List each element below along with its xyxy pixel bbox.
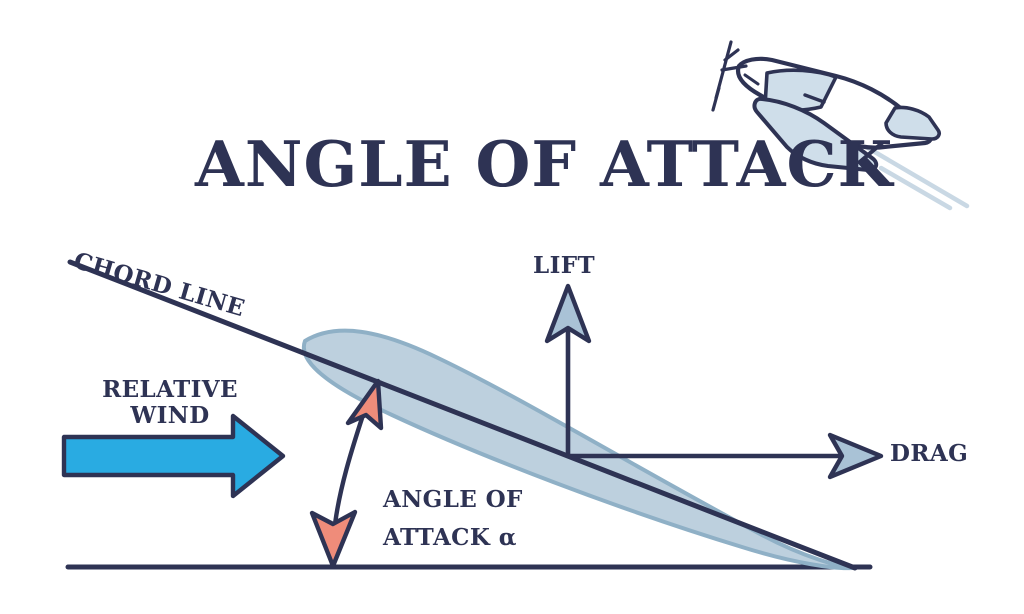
angle-arc-double-arrow-icon [312,381,381,566]
angle-of-attack-infographic: ANGLE OF ATTACK CHORD LINE RELATIVE WIND… [0,0,1024,614]
angle-of-attack-label: ANGLE OF ATTACK α [383,481,523,557]
drag-label: DRAG [890,441,968,467]
lift-label: LIFT [533,253,595,279]
page-title: ANGLE OF ATTACK [195,128,893,200]
relative-wind-label-line1: RELATIVE [100,377,240,403]
airplane-tailplane [886,107,939,139]
relative-wind-label-line2: WIND [100,403,240,429]
relative-wind-label: RELATIVE WIND [100,377,240,430]
angle-of-attack-label-line1: ANGLE OF [383,481,523,519]
angle-of-attack-label-line2: ATTACK α [383,519,523,557]
